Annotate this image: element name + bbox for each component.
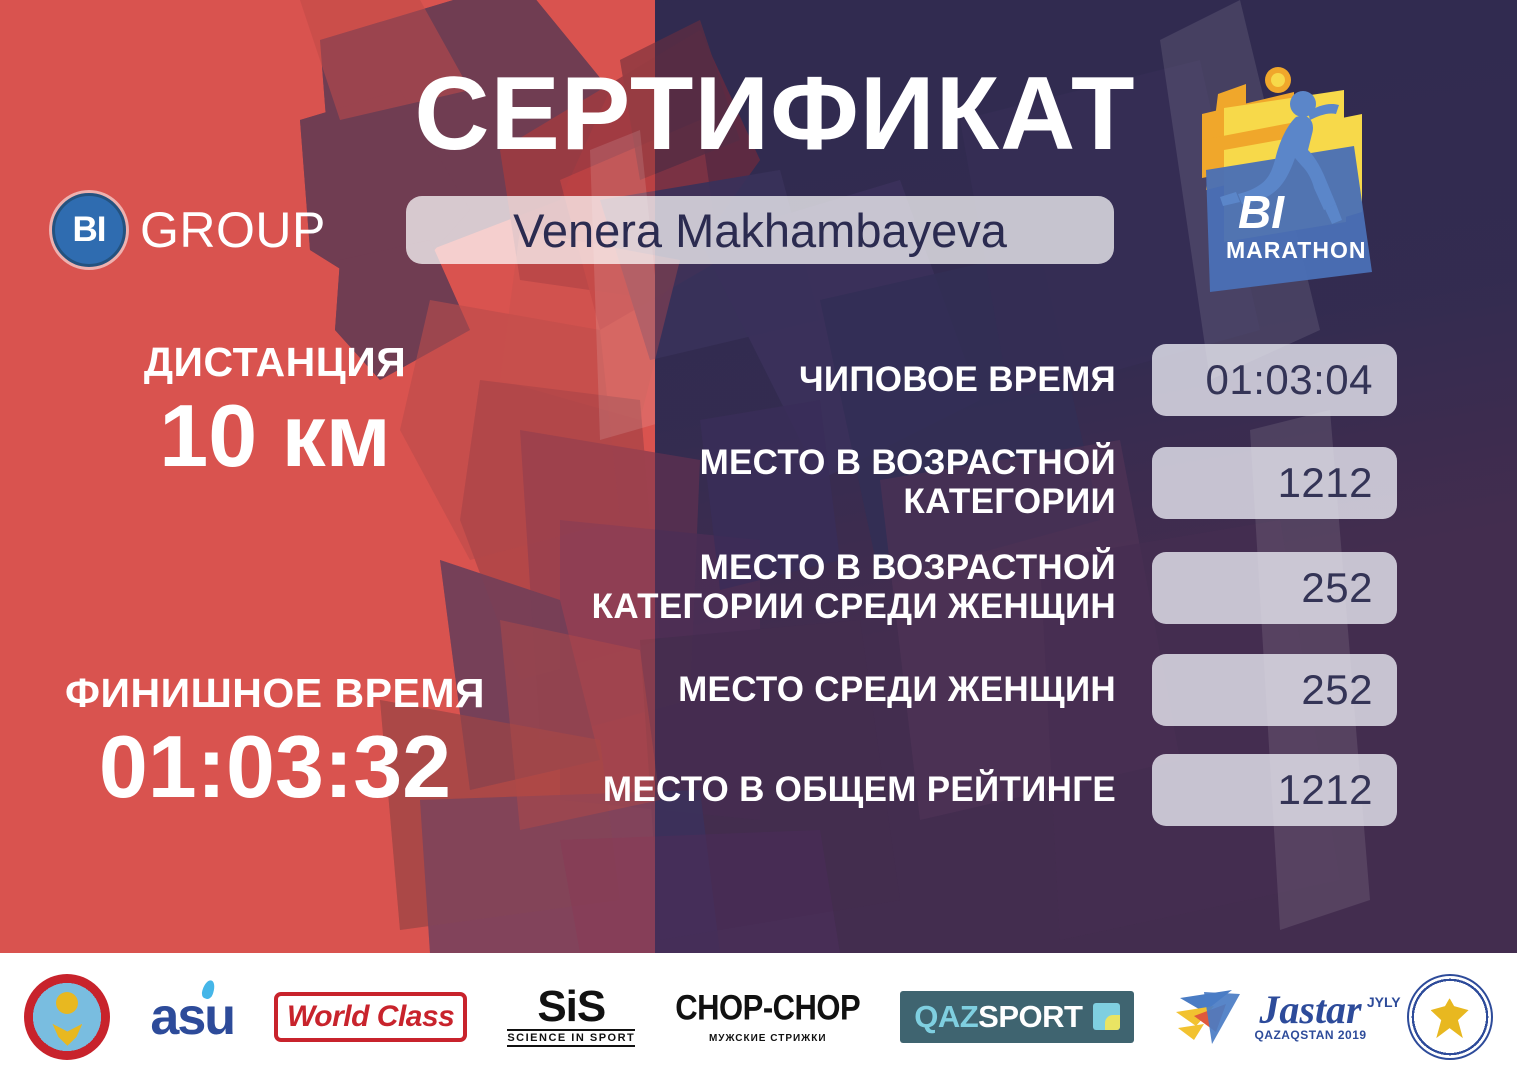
finish-time-block: ФИНИШНОЕ ВРЕМЯ 01:03:32 bbox=[30, 671, 520, 814]
sponsor-sis: SiS SCIENCE IN SPORT bbox=[507, 986, 635, 1048]
sponsor-asu: asu bbox=[150, 987, 234, 1047]
bi-badge-icon: BI bbox=[52, 193, 126, 267]
right-stats-column: ЧИПОВОЕ ВРЕМЯ 01:03:04 МЕСТО В ВОЗРАСТНО… bbox=[520, 344, 1397, 854]
overall-place-value: 1212 bbox=[1278, 766, 1373, 814]
stat-row: МЕСТО СРЕДИ ЖЕНЩИН 252 bbox=[520, 654, 1397, 726]
sponsor-bar: asu World Class SiS SCIENCE IN SPORT CHO… bbox=[0, 953, 1517, 1080]
bi-marathon-logo-icon: BI MARATHON bbox=[1176, 62, 1388, 307]
participant-name-banner: Venera Makhambayeva bbox=[406, 196, 1114, 264]
age-category-women-place-value: 252 bbox=[1301, 564, 1373, 612]
qazsport-label-a: QAZ bbox=[914, 999, 978, 1034]
sis-label: SiS bbox=[507, 986, 635, 1028]
chop-chop-label: CHOP-CHOP bbox=[675, 987, 860, 1028]
age-category-place-label: МЕСТО В ВОЗРАСТНОЙ КАТЕГОРИИ bbox=[520, 444, 1116, 521]
asu-label: asu bbox=[150, 988, 234, 1046]
nur-sultan-seal-icon bbox=[24, 974, 110, 1060]
marathon-logo-bi: BI bbox=[1238, 186, 1285, 238]
age-category-women-place-label: МЕСТО В ВОЗРАСТНОЙ КАТЕГОРИИ СРЕДИ ЖЕНЩИ… bbox=[520, 549, 1116, 626]
chop-chop-tagline: МУЖСКИЕ СТРИЖКИ bbox=[675, 1033, 860, 1044]
sponsor-qazsport: QAZSPORT bbox=[900, 991, 1134, 1043]
chip-time-label: ЧИПОВОЕ ВРЕМЯ bbox=[520, 361, 1116, 400]
sponsor-chop-chop: CHOP-CHOP МУЖСКИЕ СТРИЖКИ bbox=[675, 990, 860, 1044]
women-place-label: МЕСТО СРЕДИ ЖЕНЩИН bbox=[520, 671, 1116, 710]
world-class-label: World Class bbox=[274, 992, 467, 1042]
jastar-arrow-icon bbox=[1174, 986, 1248, 1048]
age-category-place-value: 1212 bbox=[1278, 459, 1373, 507]
overall-place-label: МЕСТО В ОБЩЕМ РЕЙТИНГЕ bbox=[520, 771, 1116, 810]
age-category-women-place-pill: 252 bbox=[1152, 552, 1397, 624]
jastar-jyly-label: JYLY bbox=[1367, 994, 1401, 1010]
marathon-logo-word: MARATHON bbox=[1226, 237, 1366, 263]
overall-place-pill: 1212 bbox=[1152, 754, 1397, 826]
page-title: СЕРТИФИКАТ bbox=[395, 62, 1155, 166]
distance-label: ДИСТАНЦИЯ bbox=[30, 340, 520, 384]
chip-time-pill: 01:03:04 bbox=[1152, 344, 1397, 416]
women-place-pill: 252 bbox=[1152, 654, 1397, 726]
bi-group-label: GROUP bbox=[140, 201, 326, 259]
finish-time-label: ФИНИШНОЕ ВРЕМЯ bbox=[30, 671, 520, 715]
participant-name: Venera Makhambayeva bbox=[513, 203, 1007, 258]
qazsport-label-b: SPORT bbox=[978, 999, 1082, 1034]
stat-row: МЕСТО В ОБЩЕМ РЕЙТИНГЕ 1212 bbox=[520, 754, 1397, 826]
chip-time-value: 01:03:04 bbox=[1206, 356, 1374, 404]
qazsport-mark-icon bbox=[1093, 1003, 1120, 1030]
bi-group-logo: BI GROUP bbox=[52, 193, 326, 267]
sponsor-nur-sultan-seal bbox=[24, 974, 110, 1060]
stat-row: МЕСТО В ВОЗРАСТНОЙ КАТЕГОРИИ СРЕДИ ЖЕНЩИ… bbox=[520, 549, 1397, 626]
finish-time-value: 01:03:32 bbox=[30, 721, 520, 813]
sponsor-world-class: World Class bbox=[274, 992, 467, 1042]
ministry-seal-icon bbox=[1407, 974, 1493, 1060]
jastar-label: Jastar bbox=[1254, 992, 1366, 1028]
age-category-place-pill: 1212 bbox=[1152, 447, 1397, 519]
jastar-tagline: QAZAQSTAN 2019 bbox=[1254, 1028, 1366, 1042]
stat-row: МЕСТО В ВОЗРАСТНОЙ КАТЕГОРИИ 1212 bbox=[520, 444, 1397, 521]
stat-row: ЧИПОВОЕ ВРЕМЯ 01:03:04 bbox=[520, 344, 1397, 416]
sponsor-jastar: Jastar QAZAQSTAN 2019 JYLY bbox=[1174, 986, 1366, 1048]
distance-value: 10 км bbox=[30, 390, 520, 482]
certificate-canvas: СЕРТИФИКАТ BI GROUP Venera Makhambayeva … bbox=[0, 0, 1517, 1080]
sis-tagline: SCIENCE IN SPORT bbox=[507, 1029, 635, 1047]
distance-block: ДИСТАНЦИЯ 10 км bbox=[30, 340, 520, 483]
sponsor-ministry-seal bbox=[1407, 974, 1493, 1060]
women-place-value: 252 bbox=[1301, 666, 1373, 714]
left-stats-column: ДИСТАНЦИЯ 10 км ФИНИШНОЕ ВРЕМЯ 01:03:32 bbox=[30, 340, 520, 813]
